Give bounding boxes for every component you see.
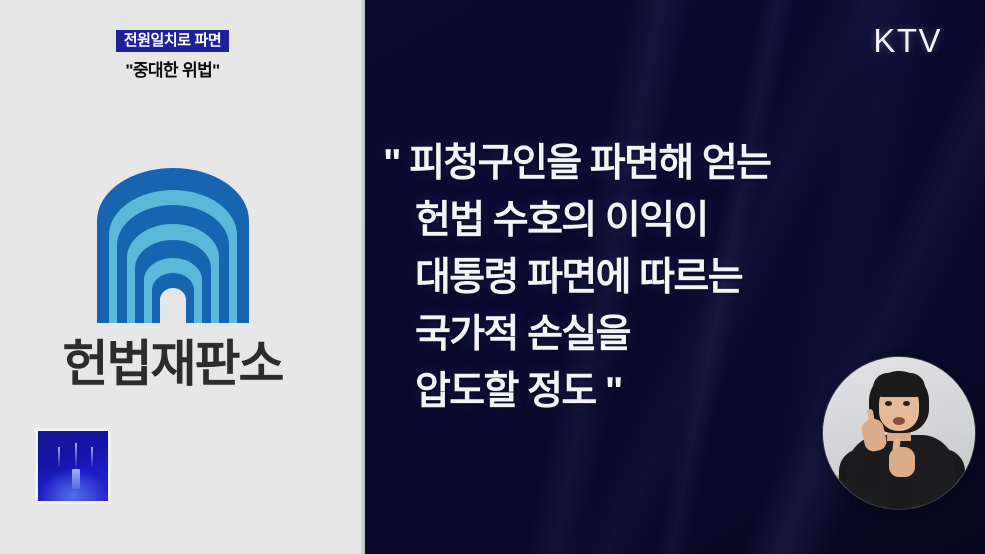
broadcast-frame: 전원일치로 파면 "중대한 위법" 헌법재판소 (0, 0, 985, 554)
quote-line: 압도할 정도 " (383, 363, 853, 420)
thumbnail-beam-icon (58, 447, 60, 467)
thumbnail-card (35, 428, 111, 504)
headline-badge: 전원일치로 파면 (116, 30, 230, 52)
mouth-shape (893, 417, 905, 425)
quote-line: 헌법 수호의 이익이 (383, 192, 853, 249)
right-panel: KTV " 피청구인을 파면해 얻는 헌법 수호의 이익이 대통령 파면에 따르… (365, 0, 985, 554)
headline-block: 전원일치로 파면 "중대한 위법" (0, 30, 345, 81)
fringe-shape (873, 373, 925, 397)
hand-shape (889, 447, 915, 477)
interpreter-figure-icon (823, 357, 975, 509)
sign-language-interpreter-bubble (823, 357, 975, 509)
channel-logo: KTV (873, 22, 942, 60)
court-wordmark: 헌법재판소 (63, 339, 283, 389)
left-panel: 전원일치로 파면 "중대한 위법" 헌법재판소 (0, 0, 365, 554)
court-arch-icon (97, 168, 249, 323)
quote-block: " 피청구인을 파면해 얻는 헌법 수호의 이익이 대통령 파면에 따르는 국가… (383, 135, 853, 420)
thumbnail-beam-icon (75, 443, 77, 468)
constitutional-court-emblem: 헌법재판소 (0, 168, 345, 389)
quote-line: 대통령 파면에 따르는 (383, 249, 853, 306)
arch-ring-center (160, 288, 186, 323)
quote-line: 국가적 손실을 (383, 306, 853, 363)
eye-shape (903, 401, 910, 406)
quote-line: " 피청구인을 파면해 얻는 (383, 135, 853, 192)
thumbnail-image (38, 431, 108, 501)
eye-shape (885, 401, 892, 406)
headline-subtitle: "중대한 위법" (0, 56, 345, 81)
thumbnail-beam-icon (91, 447, 93, 467)
thumbnail-core-icon (72, 469, 80, 489)
